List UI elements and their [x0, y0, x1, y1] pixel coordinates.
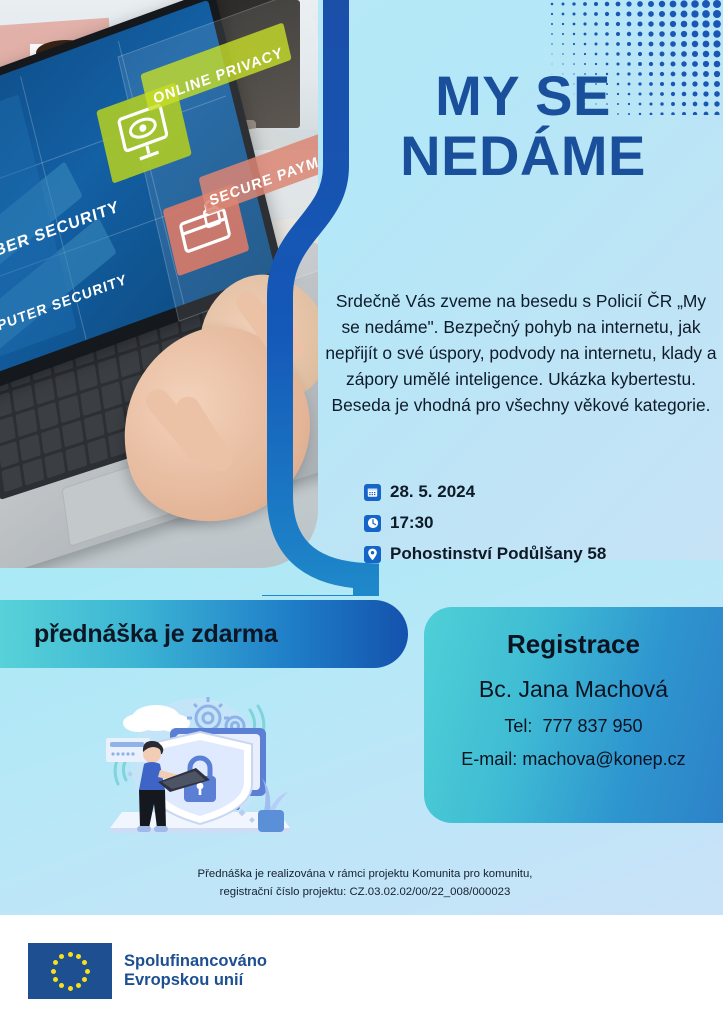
project-note-line-1: Přednáška je realizována v rámci projekt… — [110, 866, 620, 884]
photo-key — [80, 389, 101, 416]
event-detail-location: Pohostinství Podůlšany 58 — [364, 543, 704, 565]
eu-star — [82, 977, 87, 982]
photo-key — [41, 427, 62, 454]
photo-key — [0, 392, 13, 419]
photo-key — [65, 444, 86, 471]
photo-key — [0, 416, 16, 443]
free-admission-label: přednáška je zdarma — [34, 620, 278, 649]
calendar-icon — [364, 484, 381, 501]
photo-key — [104, 406, 125, 433]
photo-key — [19, 434, 40, 461]
location-pin-icon — [364, 546, 381, 563]
photo-key — [55, 371, 76, 398]
photo-key — [16, 409, 37, 436]
eu-star — [76, 983, 81, 988]
page-title: MY SE NEDÁME — [333, 66, 713, 186]
photo-key — [37, 402, 58, 429]
eu-flag-icon — [28, 943, 112, 999]
registration-phone-label: Tel: — [504, 716, 532, 736]
eu-star — [68, 952, 73, 957]
eu-star — [59, 983, 64, 988]
photo-key — [58, 396, 79, 423]
photo-key — [12, 385, 33, 412]
photo-key — [87, 437, 108, 464]
photo-key — [76, 364, 97, 391]
eu-logo-line-2: Evropskou unií — [124, 971, 267, 990]
photo-key — [34, 378, 55, 405]
eu-logo-line-1: Spolufinancováno — [124, 952, 267, 971]
clock-icon — [364, 515, 381, 532]
photo-key — [101, 382, 122, 409]
photo-key — [1, 465, 22, 492]
event-date-value: 28. 5. 2024 — [390, 482, 475, 502]
eu-logo-text: Spolufinancováno Evropskou unií — [124, 952, 267, 991]
photo-key — [98, 357, 119, 384]
project-note-line-2: registrační číslo projektu: CZ.03.02.02/… — [110, 884, 620, 902]
registration-email-row: E-mail: machova@konep.cz — [424, 749, 723, 770]
eu-star — [82, 960, 87, 965]
event-time-value: 17:30 — [390, 513, 433, 533]
title-line-2: NEDÁME — [333, 126, 713, 186]
poster-root: ONLINE PRIVACY SECURE PAYMENT CYBER SECU… — [0, 0, 723, 1024]
photo-key — [23, 458, 44, 485]
title-line-1: MY SE — [333, 66, 713, 126]
invitation-text: Srdečně Vás zveme na besedu s Policií ČR… — [325, 288, 717, 419]
registration-email-label: E-mail: — [461, 749, 517, 769]
eu-star — [68, 986, 73, 991]
event-location-value: Pohostinství Podůlšany 58 — [390, 544, 606, 564]
event-detail-date: 28. 5. 2024 — [364, 481, 704, 503]
eu-star — [53, 977, 58, 982]
eu-star — [51, 969, 56, 974]
registration-contact-name: Bc. Jana Machová — [424, 676, 723, 703]
event-details-list: 28. 5. 2024 17:30 Pohostinství Podůlšany… — [364, 481, 704, 574]
eu-star — [53, 960, 58, 965]
eu-star — [85, 969, 90, 974]
registration-phone-value[interactable]: 777 837 950 — [542, 716, 642, 736]
registration-phone-row: Tel: 777 837 950 — [424, 716, 723, 737]
footer-logo-strip: Spolufinancováno Evropskou unií MP SV KO… — [0, 915, 723, 1024]
eu-star — [76, 954, 81, 959]
registration-heading: Registrace — [424, 629, 723, 660]
photo-key — [44, 451, 65, 478]
photo-key — [0, 441, 19, 468]
photo-key — [119, 350, 140, 377]
photo-key — [62, 420, 83, 447]
registration-email-value[interactable]: machova@konep.cz — [522, 749, 685, 769]
photo-key — [83, 413, 104, 440]
eu-cofunding-logo: Spolufinancováno Evropskou unií — [28, 943, 267, 999]
eu-star — [59, 954, 64, 959]
illustration-svg — [92, 692, 302, 850]
cybersecurity-illustration — [92, 692, 302, 850]
event-detail-time: 17:30 — [364, 512, 704, 534]
registration-panel: Registrace Bc. Jana Machová Tel: 777 837… — [424, 607, 723, 823]
free-admission-banner: přednáška je zdarma — [0, 600, 408, 668]
project-funding-note: Přednáška je realizována v rámci projekt… — [110, 866, 620, 901]
